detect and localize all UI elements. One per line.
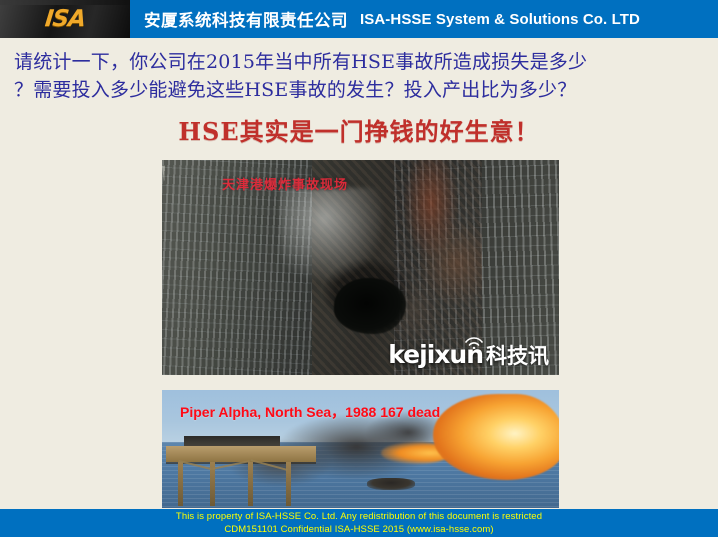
platform-leg bbox=[178, 462, 183, 506]
piper-alpha-platform bbox=[166, 440, 316, 506]
company-name-cn: 安厦系统科技有限责任公司 bbox=[144, 7, 348, 31]
piper-alpha-caption: Piper Alpha, North Sea，1988 167 dead bbox=[180, 402, 440, 422]
footer-document-id-line: CDM151101 Confidential ISA-HSSE 2015 (ww… bbox=[224, 524, 493, 536]
tianjin-smoke-plume bbox=[280, 188, 390, 288]
slide-headline: HSE其实是一门挣钱的好生意！ bbox=[0, 112, 718, 147]
platform-leg bbox=[248, 462, 253, 506]
question-text-block: 请统计一下，你公司在2015年当中所有HSE事故所造成损失是多少 ？需要投入多少… bbox=[14, 48, 706, 104]
tianjin-photo-caption: 天津港爆炸事故现场 bbox=[222, 174, 348, 193]
company-name-en: ISA-HSSE System & Solutions Co. LTD bbox=[360, 11, 640, 28]
rescue-boat bbox=[367, 478, 415, 490]
watermark-cn-text: 科技讯 bbox=[486, 345, 549, 367]
tianjin-blast-crater bbox=[334, 278, 406, 334]
logo-container: ISA bbox=[0, 0, 130, 38]
kejixun-watermark: kejixun 科技讯 bbox=[388, 343, 549, 367]
tianjin-explosion-photo: 天津港爆炸事故现场 kejixun 科技讯 bbox=[162, 160, 559, 375]
question-line-1: 请统计一下，你公司在2015年当中所有HSE事故所造成损失是多少 bbox=[14, 48, 706, 76]
watermark-latin-text: kejixun bbox=[388, 343, 483, 367]
platform-main-deck bbox=[166, 446, 316, 462]
header-title-bar: 安厦系统科技有限责任公司 ISA-HSSE System & Solutions… bbox=[130, 0, 718, 38]
piper-alpha-photo: Piper Alpha, North Sea，1988 167 dead bbox=[162, 390, 559, 508]
isa-logo: ISA bbox=[44, 8, 86, 31]
slide-header: ISA 安厦系统科技有限责任公司 ISA-HSSE System & Solut… bbox=[0, 0, 718, 38]
footer-copyright-line: This is property of ISA-HSSE Co. Ltd. An… bbox=[176, 511, 542, 523]
slide-footer: This is property of ISA-HSSE Co. Ltd. An… bbox=[0, 509, 718, 537]
question-line-2: ？需要投入多少能避免这些HSE事故的发生？投入产出比为多少？ bbox=[14, 76, 706, 104]
